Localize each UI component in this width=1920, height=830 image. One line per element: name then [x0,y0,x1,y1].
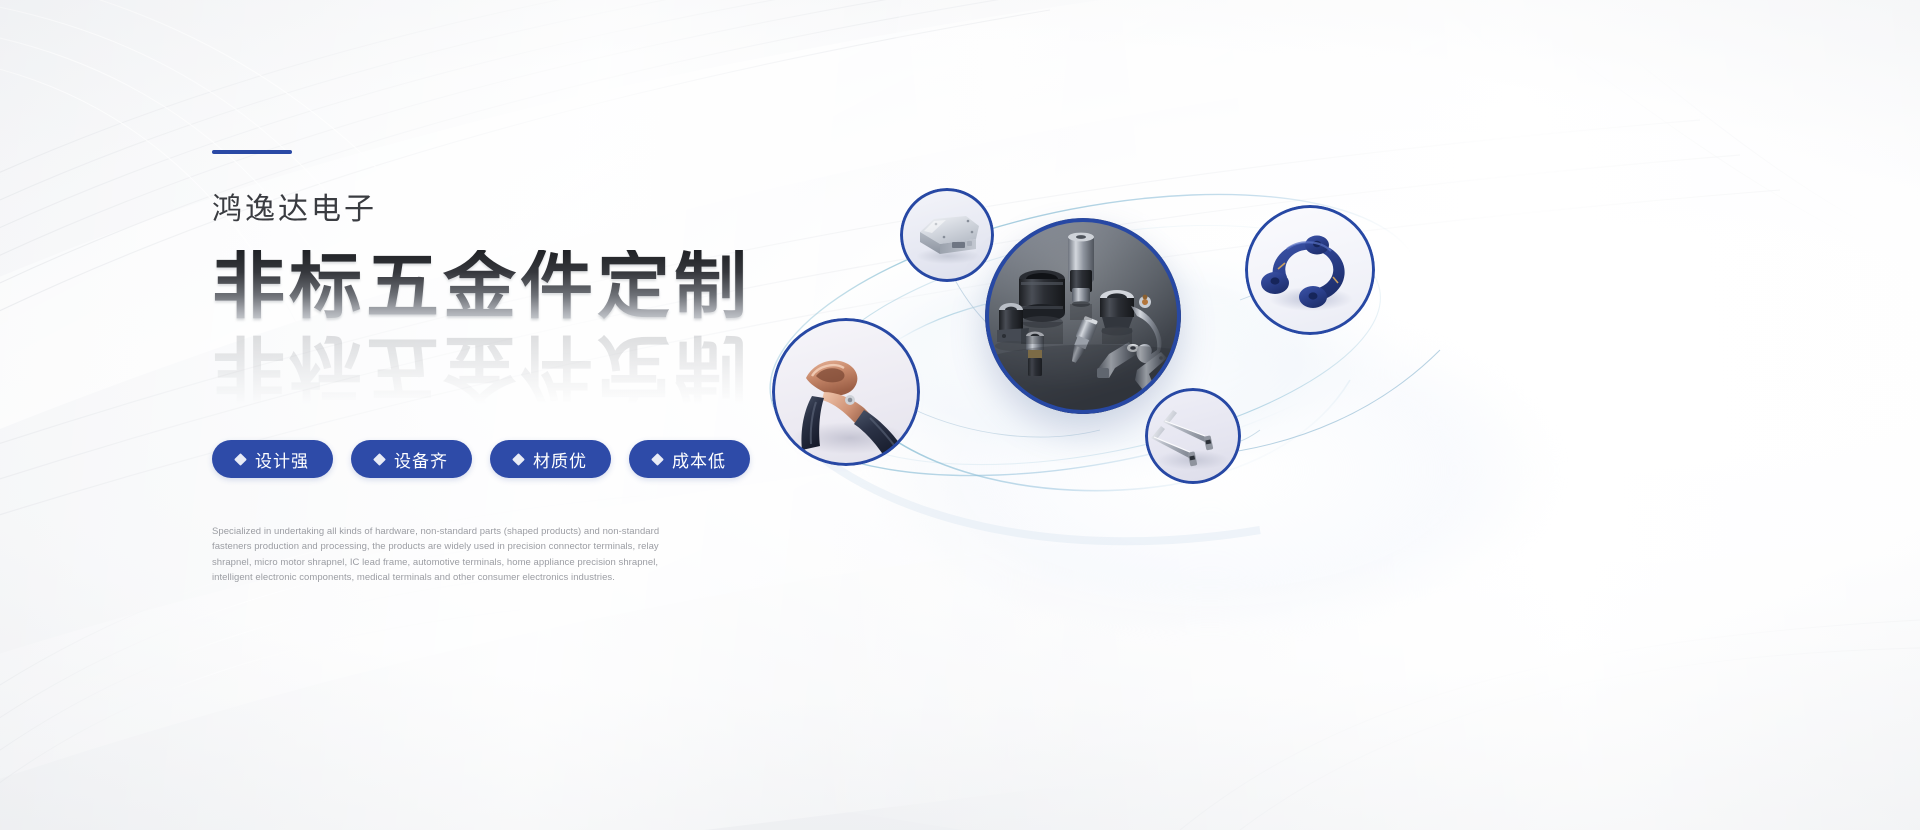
product-showcase [740,110,1900,670]
diamond-bullet-icon [651,453,664,466]
feature-tag-label: 设计强 [255,447,309,472]
bent-metal-pins-image [1145,388,1241,484]
feature-tag-design[interactable]: 设计强 [212,440,333,478]
diamond-bullet-icon [234,453,247,466]
blue-retaining-clip-image [1245,205,1375,335]
showcase-item-blue-retaining-clip[interactable] [1245,205,1375,335]
headline-reflection: 非标五金件定制 [212,331,751,404]
company-description: Specialized in undertaking all kinds of … [212,524,682,586]
feature-tag-material[interactable]: 材质优 [490,440,611,478]
feature-tag-label: 材质优 [533,447,587,472]
banner-stage: 鸿逸达电子 非标五金件定制 非标五金件定制 设计强 设备齐 材质优 成本低 [0,0,1920,830]
accent-bar [212,150,292,154]
copper-battery-clamp-image [772,318,920,466]
metal-enclosure-box-image [900,188,994,282]
feature-tag-label: 设备齐 [394,447,448,472]
showcase-item-bent-metal-pins[interactable] [1145,388,1241,484]
showcase-item-copper-battery-clamp[interactable] [772,318,920,466]
feature-tag-label: 成本低 [672,447,726,472]
showcase-item-metal-enclosure-box[interactable] [900,188,994,282]
diamond-bullet-icon [512,453,525,466]
feature-tag-equipment[interactable]: 设备齐 [351,440,472,478]
feature-tag-cost[interactable]: 成本低 [629,440,750,478]
diamond-bullet-icon [373,453,386,466]
precision-connectors-image [985,218,1181,414]
showcase-item-precision-connectors-group[interactable] [985,218,1181,414]
